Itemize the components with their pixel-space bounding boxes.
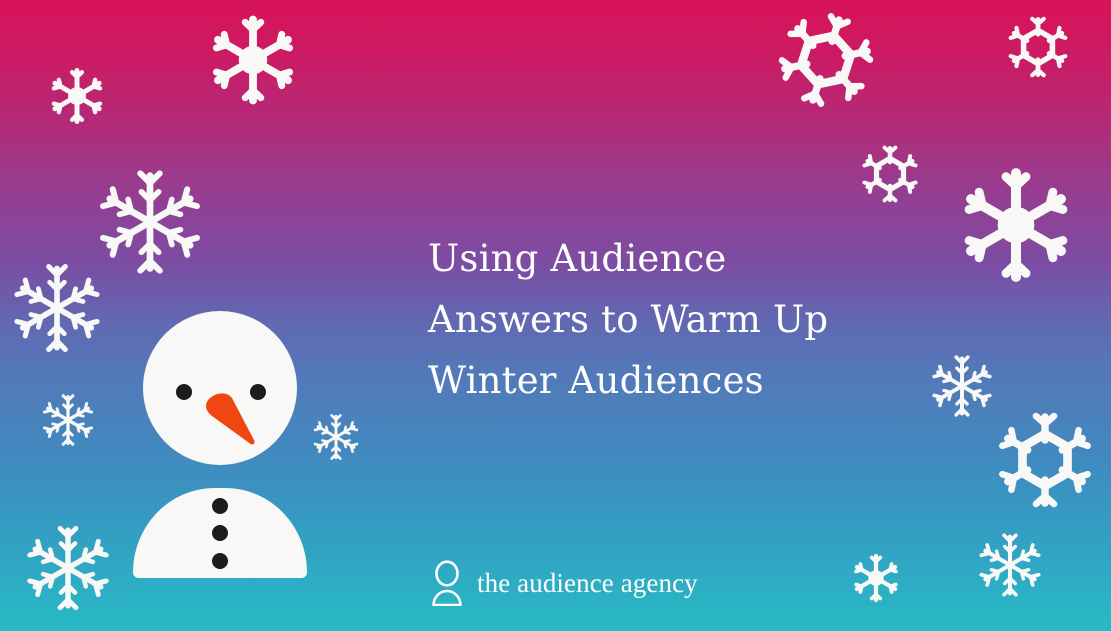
- title-line-3: Winter Audiences: [428, 350, 948, 411]
- brand-logo: the audience agency: [430, 560, 698, 606]
- title-line-1: Using Audience: [428, 228, 948, 289]
- snowman-button: [212, 525, 228, 541]
- title-line-2: Answers to Warm Up: [428, 289, 948, 350]
- snowman-button: [212, 553, 228, 569]
- snowman-carrot-nose: [196, 392, 268, 448]
- page-title: Using Audience Answers to Warm Up Winter…: [428, 228, 948, 411]
- snowman-button: [212, 498, 228, 514]
- logo-wordmark: the audience agency: [477, 568, 698, 599]
- snowman-eye: [176, 384, 192, 400]
- person-icon: [430, 560, 464, 606]
- promo-banner: Using Audience Answers to Warm Up Winter…: [0, 0, 1111, 631]
